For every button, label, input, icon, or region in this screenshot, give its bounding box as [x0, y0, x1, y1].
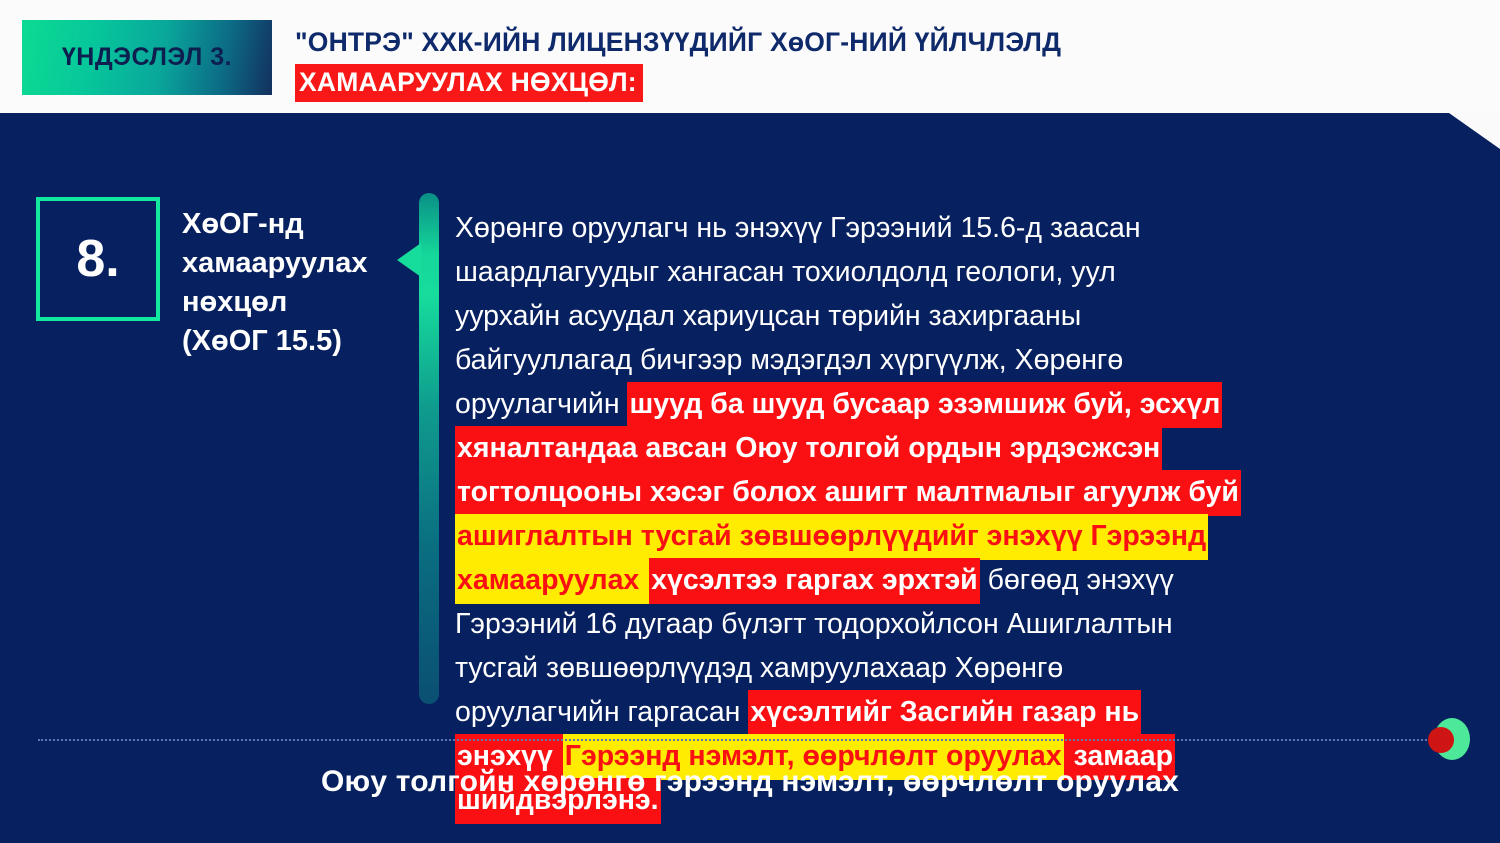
- body-run-plain: уурхайн асуудал хариуцсан төрийн захирга…: [455, 300, 1081, 332]
- slide-header: ҮНДЭСЛЭЛ 3. "ОНТРЭ" ХХК-ИЙН ЛИЦЕНЗҮҮДИЙГ…: [0, 0, 1500, 113]
- body-run-red: хяналтандаа авсан Оюу толгой ордын эрдэс…: [455, 426, 1162, 472]
- section-badge-label: ҮНДЭСЛЭЛ 3.: [62, 43, 232, 72]
- body-run-plain: Гэрээний 16 дугаар бүлэгт тодорхойлсон А…: [455, 608, 1173, 640]
- body-paragraph: Хөрөнгө оруулагч нь энэхүү Гэрээний 15.6…: [455, 206, 1415, 822]
- body-run-plain: Хөрөнгө оруулагч нь энэхүү Гэрээний 15.6…: [455, 212, 1141, 244]
- oyu-tolgoi-logo-icon: [1428, 718, 1470, 760]
- body-line: байгууллагад бичгээр мэдэгдэл хүргүүлж, …: [455, 338, 1415, 382]
- body-run-plain: байгууллагад бичгээр мэдэгдэл хүргүүлж, …: [455, 344, 1123, 376]
- footer-divider: [38, 739, 1458, 741]
- body-run-yellow: хамааруулах: [455, 558, 649, 604]
- item-caption-line-2: хамааруулах: [182, 244, 422, 283]
- body-run-plain: бөгөөд энэхүү: [980, 564, 1174, 596]
- item-caption-line-4: (ХөОГ 15.5): [182, 322, 422, 361]
- header-title-block: "ОНТРЭ" ХХК-ИЙН ЛИЦЕНЗҮҮДИЙГ ХөОГ-НИЙ ҮЙ…: [295, 24, 1415, 102]
- body-run-plain: шаардлагуудыг хангасан тохиолдолд геолог…: [455, 256, 1116, 288]
- body-run-plain: тусгай зөвшөөрлүүдэд хамруулахаар Хөрөнг…: [455, 652, 1063, 684]
- header-title-line-2: ХАМААРУУЛАХ НӨХЦӨЛ:: [295, 64, 643, 102]
- item-number-box: 8.: [36, 197, 160, 321]
- body-run-red: хүсэлтийг Засгийн газар нь: [748, 690, 1141, 736]
- accent-arrow-icon: [397, 243, 421, 277]
- body-line: ашиглалтын тусгай зөвшөөрлүүдийг энэхүү …: [455, 514, 1415, 558]
- body-line: уурхайн асуудал хариуцсан төрийн захирга…: [455, 294, 1415, 338]
- header-title-line-1: "ОНТРЭ" ХХК-ИЙН ЛИЦЕНЗҮҮДИЙГ ХөОГ-НИЙ ҮЙ…: [295, 24, 1415, 60]
- item-caption-line-1: ХөОГ-нд: [182, 205, 422, 244]
- item-caption: ХөОГ-нд хамааруулах нөхцөл (ХөОГ 15.5): [182, 205, 422, 361]
- item-number-label: 8.: [76, 233, 119, 285]
- body-line: оруулагчийн шууд ба шууд бусаар эзэмшиж …: [455, 382, 1415, 426]
- header-title-line-2-wrap: ХАМААРУУЛАХ НӨХЦӨЛ:: [295, 64, 1415, 102]
- body-line: шаардлагуудыг хангасан тохиолдолд геолог…: [455, 250, 1415, 294]
- footer-title: Оюу толгойн хөрөнгө гэрээнд нэмэлт, өөрч…: [0, 765, 1500, 799]
- body-line: тусгай зөвшөөрлүүдэд хамруулахаар Хөрөнг…: [455, 646, 1415, 690]
- body-line: хяналтандаа авсан Оюу толгой ордын эрдэс…: [455, 426, 1415, 470]
- body-run-plain: оруулагчийн гаргасан: [455, 696, 748, 728]
- item-caption-line-3: нөхцөл: [182, 283, 422, 322]
- body-line: Хөрөнгө оруулагч нь энэхүү Гэрээний 15.6…: [455, 206, 1415, 250]
- body-line: оруулагчийн гаргасан хүсэлтийг Засгийн г…: [455, 690, 1415, 734]
- body-run-red: хүсэлтээ гаргах эрхтэй: [649, 558, 980, 604]
- body-run-yellow: ашиглалтын тусгай зөвшөөрлүүдийг энэхүү …: [455, 514, 1208, 560]
- body-run-red: тогтолцооны хэсэг болох ашигт малтмалыг …: [455, 470, 1241, 516]
- logo-red-circle: [1428, 727, 1454, 753]
- section-badge: ҮНДЭСЛЭЛ 3.: [22, 20, 272, 95]
- body-line: тогтолцооны хэсэг болох ашигт малтмалыг …: [455, 470, 1415, 514]
- slide: ҮНДЭСЛЭЛ 3. "ОНТРЭ" ХХК-ИЙН ЛИЦЕНЗҮҮДИЙГ…: [0, 0, 1500, 843]
- accent-bracket-bar: [419, 193, 439, 704]
- body-run-red: шууд ба шууд бусаар эзэмшиж буй, эсхүл: [627, 382, 1222, 428]
- body-line: Гэрээний 16 дугаар бүлэгт тодорхойлсон А…: [455, 602, 1415, 646]
- body-run-plain: оруулагчийн: [455, 388, 627, 420]
- body-line: хамааруулах хүсэлтээ гаргах эрхтэй бөгөө…: [455, 558, 1415, 602]
